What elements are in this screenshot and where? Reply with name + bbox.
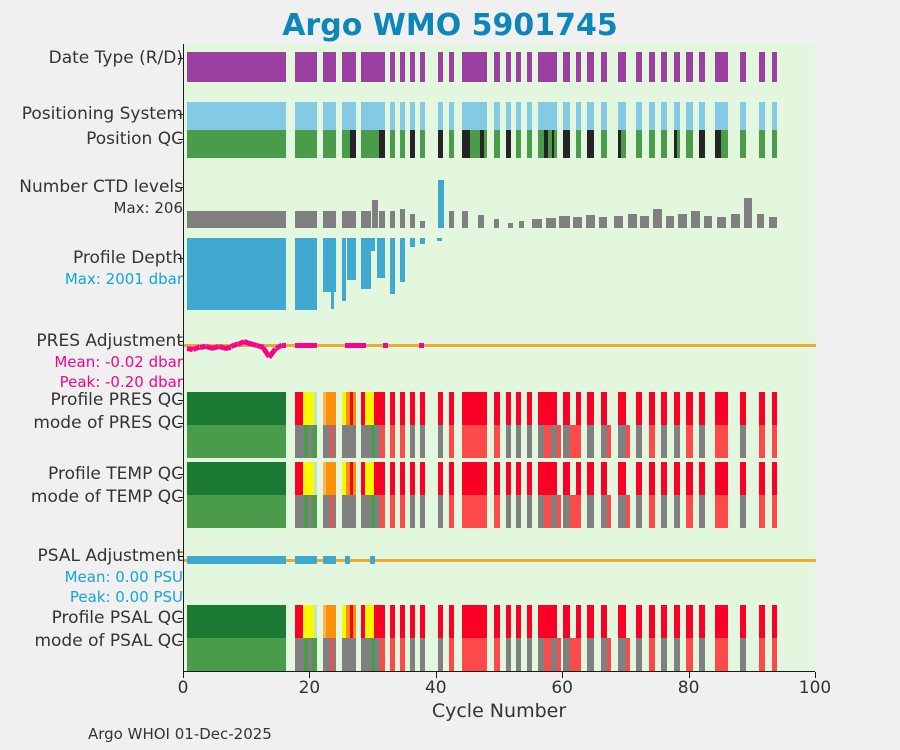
mode-qc-block <box>772 638 777 671</box>
profile-qc-block <box>740 392 746 425</box>
position-qc-bad <box>563 130 569 158</box>
position-qc-good <box>601 130 607 158</box>
y-axis-label-profile-pres-qc: Profile PRES QC <box>50 390 183 411</box>
profile-qc-block <box>636 605 642 638</box>
x-tick-mark <box>436 672 437 678</box>
x-tick-mark <box>309 672 310 678</box>
y-axis-label-position-qc: Position QC <box>86 129 183 150</box>
mode-qc-block <box>438 638 443 671</box>
x-tick-label: 80 <box>678 678 700 698</box>
date-type-block <box>715 52 728 82</box>
profile-depth-bar <box>347 238 356 280</box>
y-axis-label-text: Profile Depth <box>65 248 183 269</box>
profile-qc-block <box>563 392 569 425</box>
figure-footer: Argo WHOI 01-Dec-2025 <box>88 725 272 743</box>
date-type-block <box>601 52 607 82</box>
psal-adjustment-mark <box>323 556 336 564</box>
position-qc-bad <box>552 130 555 158</box>
mode-qc-block <box>380 425 385 458</box>
profile-depth-bar <box>209 238 214 308</box>
date-type-block <box>699 52 705 82</box>
position-qc-good <box>295 130 317 158</box>
mode-qc-block <box>740 425 746 458</box>
date-type-block <box>410 52 415 82</box>
profile-qc-block <box>374 392 385 425</box>
mode-qc-block <box>506 425 511 458</box>
ctd-levels-bar <box>704 216 713 228</box>
mode-qc-block <box>333 425 336 458</box>
profile-qc-block <box>576 392 581 425</box>
profile-qc-block <box>740 605 746 638</box>
positioning-system-block <box>740 102 746 130</box>
profile-qc-block <box>674 605 680 638</box>
profile-qc-block <box>400 462 405 495</box>
profile-depth-bar <box>331 238 334 309</box>
position-qc-bad <box>379 130 385 158</box>
ctd-levels-bar <box>691 211 700 228</box>
date-type-block <box>295 52 317 82</box>
mode-qc-block <box>333 495 336 528</box>
profile-depth-bar <box>377 238 385 278</box>
lane-profile-pres-qc <box>184 392 816 425</box>
x-tick-mark <box>815 672 816 678</box>
mode-qc-block <box>420 495 425 528</box>
mode-qc-block <box>295 638 304 671</box>
mode-qc-block <box>410 425 415 458</box>
mode-qc-block <box>686 425 692 458</box>
profile-qc-block <box>462 392 487 425</box>
profile-qc-block <box>303 462 314 495</box>
mode-qc-block <box>649 425 655 458</box>
position-qc-good <box>554 130 557 158</box>
lane-mode-of-temp-qc <box>184 495 816 528</box>
profile-qc-block <box>326 605 335 638</box>
mode-qc-block <box>699 425 705 458</box>
profile-qc-block <box>538 392 557 425</box>
profile-qc-block <box>759 605 765 638</box>
ctd-levels-bar <box>361 211 371 228</box>
pres-adjustment-mark <box>345 343 366 348</box>
mode-qc-block <box>661 425 667 458</box>
date-type-block <box>187 52 287 82</box>
profile-qc-block <box>420 605 425 638</box>
profile-qc-block <box>506 605 511 638</box>
profile-qc-block <box>400 605 405 638</box>
position-qc-good <box>390 130 395 158</box>
positioning-system-block <box>587 102 593 130</box>
profile-qc-block <box>516 462 521 495</box>
mode-qc-block <box>420 638 425 671</box>
profile-qc-block <box>390 462 395 495</box>
profile-qc-block <box>295 462 303 495</box>
mode-qc-block <box>715 638 728 671</box>
positioning-system-block <box>715 102 728 130</box>
position-qc-bad <box>506 130 511 158</box>
mode-qc-block <box>607 425 611 458</box>
profile-qc-block <box>576 462 581 495</box>
profile-qc-block <box>516 392 521 425</box>
profile-qc-block <box>365 605 373 638</box>
profile-qc-block <box>438 462 443 495</box>
mode-qc-block <box>626 425 630 458</box>
ctd-levels-bar <box>717 217 726 228</box>
position-qc-good <box>649 130 655 158</box>
y-axis-sublabel: Mean: 0.00 PSU <box>38 567 183 587</box>
mode-qc-block <box>400 495 405 528</box>
profile-qc-block <box>410 605 415 638</box>
mode-qc-block <box>699 495 705 528</box>
lane-mode-of-psal-qc <box>184 638 816 671</box>
x-tick-label: 60 <box>551 678 573 698</box>
pres-adjustment-mark <box>419 343 424 348</box>
mode-qc-block <box>361 495 371 528</box>
mode-qc-block <box>390 495 395 528</box>
profile-qc-block <box>506 462 511 495</box>
positioning-system-block <box>576 102 581 130</box>
position-qc-good <box>470 130 480 158</box>
position-qc-bad <box>715 130 721 158</box>
positioning-system-block <box>649 102 655 130</box>
mode-qc-block <box>686 495 692 528</box>
profile-qc-block <box>326 462 335 495</box>
date-type-block <box>400 52 405 82</box>
position-qc-bad <box>462 130 470 158</box>
position-qc-good <box>420 130 425 158</box>
positioning-system-block <box>636 102 642 130</box>
profile-qc-block <box>438 605 443 638</box>
y-axis-label-mode-of-psal-qc: mode of PSAL QC <box>34 631 183 652</box>
positioning-system-block <box>516 102 521 130</box>
mode-qc-block <box>527 495 532 528</box>
profile-qc-block <box>601 392 607 425</box>
profile-qc-block <box>303 392 314 425</box>
pres-adjustment-mark <box>383 343 387 348</box>
x-tick-mark <box>562 672 563 678</box>
profile-qc-block <box>527 392 532 425</box>
profile-qc-block <box>527 462 532 495</box>
mode-qc-block <box>449 495 454 528</box>
mode-qc-block <box>516 638 521 671</box>
profile-qc-block <box>400 392 405 425</box>
positioning-system-block <box>538 102 557 130</box>
position-qc-good <box>759 130 765 158</box>
positioning-system-block <box>506 102 511 130</box>
profile-qc-block <box>449 605 454 638</box>
ctd-levels-bar <box>640 216 649 228</box>
profile-qc-block <box>295 605 303 638</box>
profile-depth-bar <box>235 238 240 308</box>
profile-qc-block <box>353 605 356 638</box>
lane-date-type <box>184 52 816 82</box>
profile-qc-block <box>449 392 454 425</box>
profile-qc-block <box>506 392 511 425</box>
mode-qc-block <box>576 638 581 671</box>
ctd-levels-bar <box>478 215 484 228</box>
y-axis-label-profile-depth: Profile DepthMax: 2001 dbar <box>65 248 183 289</box>
ctd-levels-bar <box>586 215 595 228</box>
position-qc-good <box>677 130 680 158</box>
mode-qc-block <box>674 425 680 458</box>
psal-adjustment-mark <box>345 556 350 564</box>
position-qc-good <box>661 130 667 158</box>
profile-qc-block <box>374 462 385 495</box>
ctd-levels-bar <box>653 209 662 228</box>
date-type-block <box>449 52 454 82</box>
mode-qc-block <box>323 425 330 458</box>
profile-qc-block <box>365 462 373 495</box>
profile-qc-block <box>674 462 680 495</box>
mode-qc-block <box>674 495 680 528</box>
y-axis-label-mode-of-temp-qc: mode of TEMP QC <box>31 487 183 508</box>
mode-qc-block <box>323 495 330 528</box>
mode-qc-block <box>527 638 532 671</box>
mode-qc-block <box>506 495 511 528</box>
mode-qc-block <box>618 495 627 528</box>
mode-qc-block <box>333 638 336 671</box>
mode-qc-block <box>661 495 667 528</box>
x-tick-label: 20 <box>299 678 321 698</box>
position-qc-good <box>721 130 727 158</box>
profile-depth-bar <box>295 238 317 310</box>
profile-qc-block <box>365 392 373 425</box>
position-qc-good <box>342 130 350 158</box>
date-type-block <box>686 52 692 82</box>
date-type-block <box>740 52 746 82</box>
ctd-levels-bar <box>666 216 675 228</box>
x-tick-mark <box>689 672 690 678</box>
position-qc-bad <box>480 130 484 158</box>
mode-qc-block <box>674 638 680 671</box>
profile-qc-block <box>636 392 642 425</box>
profile-qc-block <box>462 605 487 638</box>
profile-qc-block <box>649 392 655 425</box>
positioning-system-block <box>295 102 317 130</box>
profile-qc-block <box>649 605 655 638</box>
date-type-block <box>661 52 667 82</box>
ctd-levels-bar <box>462 211 468 228</box>
profile-qc-block <box>187 605 287 638</box>
lane-profile-temp-qc <box>184 462 816 495</box>
profile-depth-bar <box>371 238 375 251</box>
profile-qc-block <box>601 462 607 495</box>
position-qc-good <box>484 130 488 158</box>
positioning-system-block <box>323 102 336 130</box>
positioning-system-block <box>410 102 415 130</box>
x-tick-label: 0 <box>178 678 189 698</box>
ctd-levels-bar <box>628 214 637 228</box>
y-axis-label-text: PSAL Adjustment <box>38 546 183 567</box>
mode-qc-block <box>187 425 287 458</box>
profile-qc-block <box>494 462 500 495</box>
position-qc-good <box>516 130 521 158</box>
mode-qc-block <box>462 495 487 528</box>
y-axis-sublabel: Mean: -0.02 dbar <box>36 352 183 372</box>
mode-qc-block <box>361 638 371 671</box>
date-type-block <box>342 52 356 82</box>
y-axis-sublabel: Max: 2001 dbar <box>65 269 183 289</box>
y-axis-label-text: mode of TEMP QC <box>31 487 183 508</box>
ctd-levels-bar <box>323 211 336 228</box>
mode-qc-block <box>576 495 581 528</box>
profile-qc-block <box>449 462 454 495</box>
positioning-system-block <box>674 102 680 130</box>
profile-qc-block <box>772 605 777 638</box>
mode-qc-block <box>187 638 287 671</box>
mode-qc-block <box>557 495 561 528</box>
mode-qc-block <box>686 638 692 671</box>
position-qc-good <box>449 130 454 158</box>
page-title: Argo WMO 5901745 <box>0 8 900 43</box>
ctd-levels-bar <box>614 216 623 228</box>
position-qc-good <box>527 130 532 158</box>
profile-qc-block <box>772 462 777 495</box>
y-axis-label-date-type: Date Type (R/D) <box>49 48 183 69</box>
profile-qc-block <box>326 392 335 425</box>
profile-qc-block <box>699 462 705 495</box>
mode-qc-block <box>759 638 765 671</box>
profile-qc-block <box>715 605 728 638</box>
lane-mode-of-pres-qc <box>184 425 816 458</box>
mode-qc-block <box>661 638 667 671</box>
y-axis-label-mode-of-pres-qc: mode of PRES QC <box>33 413 183 434</box>
y-axis-label-pres-adjustment: PRES AdjustmentMean: -0.02 dbarPeak: -0.… <box>36 331 183 392</box>
date-type-block <box>438 52 443 82</box>
date-type-block <box>494 52 500 82</box>
mode-qc-block <box>626 495 630 528</box>
profile-qc-block <box>576 605 581 638</box>
mode-qc-block <box>527 425 532 458</box>
mode-qc-block <box>576 425 581 458</box>
ctd-levels-bar <box>532 219 542 228</box>
date-type-block <box>674 52 680 82</box>
positioning-system-block <box>187 102 287 130</box>
mode-qc-block <box>636 638 642 671</box>
date-type-block <box>563 52 569 82</box>
positioning-system-block <box>494 102 500 130</box>
position-qc-bad <box>410 130 415 158</box>
positioning-system-block <box>420 102 425 130</box>
y-axis-label-text: PRES Adjustment <box>36 331 183 352</box>
mode-qc-block <box>740 495 746 528</box>
profile-qc-block <box>618 462 627 495</box>
profile-qc-block <box>686 462 692 495</box>
mode-qc-block <box>516 495 521 528</box>
mode-qc-block <box>494 425 500 458</box>
lane-profile-depth <box>184 238 816 310</box>
date-type-block <box>576 52 581 82</box>
position-qc-good <box>400 130 405 158</box>
ctd-levels-bar <box>508 223 513 228</box>
profile-qc-block <box>674 392 680 425</box>
profile-qc-block <box>314 392 317 425</box>
positioning-system-block <box>342 102 356 130</box>
profile-qc-block <box>314 605 317 638</box>
mode-qc-block <box>462 425 487 458</box>
ctd-levels-bar <box>546 218 556 228</box>
mode-qc-block <box>380 495 385 528</box>
position-qc-bad <box>350 130 356 158</box>
mode-qc-block <box>636 495 642 528</box>
x-axis-label: Cycle Number <box>183 700 815 722</box>
y-axis-label-profile-psal-qc: Profile PSAL QC <box>52 608 183 629</box>
date-type-block <box>587 52 593 82</box>
ctd-levels-bar <box>678 214 687 228</box>
mode-qc-block <box>380 638 385 671</box>
profile-depth-bar <box>361 238 371 289</box>
profile-qc-block <box>353 392 356 425</box>
mode-qc-block <box>649 638 655 671</box>
ctd-levels-bar <box>420 221 425 228</box>
mode-qc-block <box>516 425 521 458</box>
mode-qc-block <box>390 425 395 458</box>
mode-qc-block <box>607 495 611 528</box>
date-type-block <box>759 52 765 82</box>
profile-qc-block <box>410 392 415 425</box>
mode-qc-block <box>715 495 728 528</box>
profile-qc-block <box>527 605 532 638</box>
positioning-system-block <box>449 102 454 130</box>
mode-qc-block <box>557 425 561 458</box>
mode-qc-block <box>494 638 500 671</box>
psal-adjustment-mark <box>295 556 317 564</box>
position-qc-good <box>323 130 336 158</box>
positioning-system-block <box>438 102 443 130</box>
ctd-levels-bar <box>599 217 608 228</box>
y-axis-label-text: mode of PSAL QC <box>34 631 183 652</box>
mode-qc-block <box>342 425 356 458</box>
y-axis-label-profile-temp-qc: Profile TEMP QC <box>48 464 183 485</box>
mode-qc-block <box>410 495 415 528</box>
pres-adjustment-mark <box>295 343 317 348</box>
psal-adjustment-mark <box>187 556 287 564</box>
position-qc-good <box>686 130 692 158</box>
position-qc-bad <box>699 130 705 158</box>
positioning-system-block <box>462 102 487 130</box>
profile-qc-block <box>314 462 317 495</box>
profile-qc-block <box>740 462 746 495</box>
profile-qc-block <box>303 605 314 638</box>
profile-qc-block <box>601 605 607 638</box>
y-axis-label-psal-adjustment: PSAL AdjustmentMean: 0.00 PSUPeak: 0.00 … <box>38 546 183 607</box>
x-tick-mark <box>183 672 184 678</box>
position-qc-bad <box>438 130 443 158</box>
profile-qc-block <box>494 392 500 425</box>
ctd-levels-bar <box>559 216 569 228</box>
profile-depth-bar <box>247 238 252 308</box>
profile-qc-block <box>538 462 557 495</box>
mode-qc-block <box>772 425 777 458</box>
profile-qc-block <box>649 462 655 495</box>
ctd-levels-bar <box>449 211 454 228</box>
profile-depth-bar <box>437 238 442 241</box>
mode-qc-block <box>438 495 443 528</box>
date-type-block <box>390 52 395 82</box>
profile-qc-block <box>715 462 728 495</box>
profile-qc-block <box>699 605 705 638</box>
mode-qc-block <box>323 638 330 671</box>
profile-qc-block <box>772 392 777 425</box>
position-qc-good <box>636 130 642 158</box>
mode-qc-block <box>361 425 371 458</box>
mode-qc-block <box>400 425 405 458</box>
date-type-block <box>323 52 336 82</box>
date-type-block <box>516 52 521 82</box>
ctd-levels-bar <box>390 211 395 228</box>
date-type-block <box>636 52 642 82</box>
y-axis-sublabel: Peak: 0.00 PSU <box>38 587 183 607</box>
mode-qc-block <box>506 638 511 671</box>
positioning-system-block <box>601 102 607 130</box>
